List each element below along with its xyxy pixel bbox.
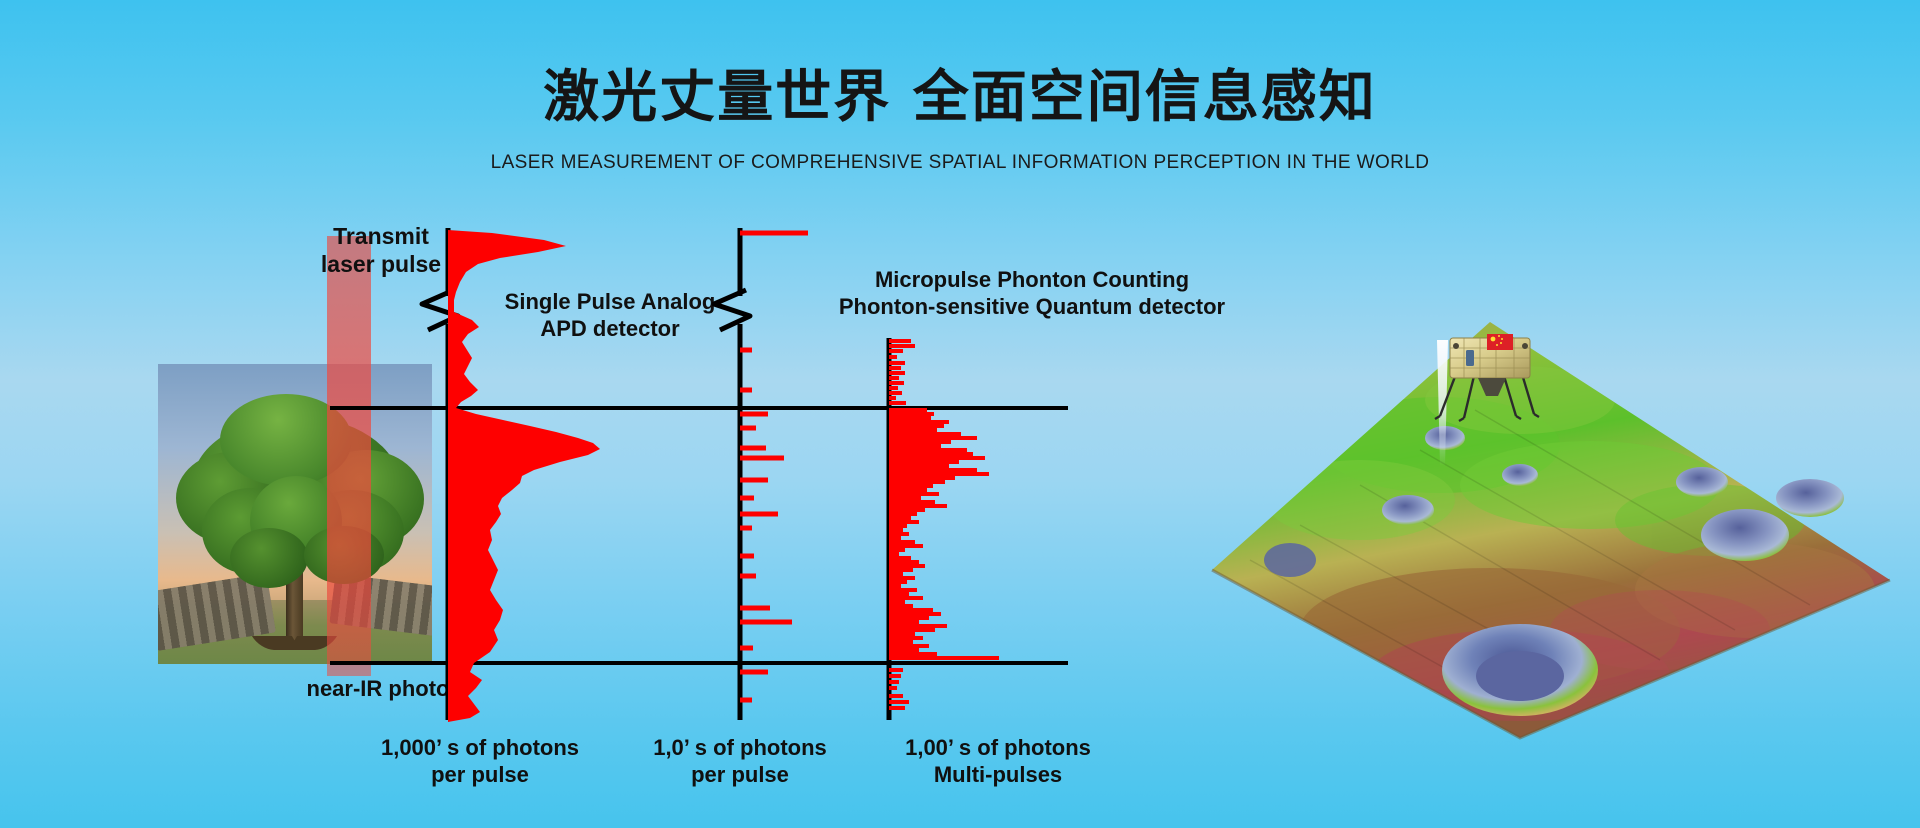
- waveform-bar: [889, 492, 939, 496]
- waveform-bar: [889, 504, 947, 508]
- waveform-bar: [889, 588, 917, 592]
- waveform-bar: [889, 592, 909, 596]
- waveform-bar: [889, 584, 901, 588]
- lander-thruster: [1453, 343, 1459, 349]
- waveform-bar: [889, 412, 934, 416]
- waveform-bar: [889, 436, 977, 440]
- waveform-panel-photon-counting-sparse: [714, 228, 808, 720]
- crater-small: [1382, 495, 1434, 525]
- waveform-bar: [889, 448, 967, 452]
- waveform-bar: [889, 391, 902, 395]
- waveform-bar: [889, 408, 927, 412]
- infographic-canvas: 激光丈量世界 全面空间信息感知 LASER MEASUREMENT OF COM…: [0, 0, 1920, 828]
- waveform-bar: [889, 628, 935, 632]
- waveform-bar: [889, 401, 906, 405]
- crater-small: [1264, 543, 1316, 577]
- waveform-bar: [889, 344, 915, 348]
- waveform-bar: [889, 520, 919, 524]
- waveform-bar: [740, 526, 752, 531]
- crater-mid: [1776, 479, 1844, 517]
- waveform-bar: [740, 456, 784, 461]
- crater-large-floor: [1476, 651, 1564, 701]
- waveform-bar: [889, 596, 923, 600]
- waveform-bar: [889, 636, 923, 640]
- waveform-bar: [889, 580, 907, 584]
- waveform-bar: [889, 361, 905, 365]
- waveform-bar: [889, 432, 961, 436]
- waveform-bar: [889, 472, 989, 476]
- waveform-bar: [889, 564, 925, 568]
- waveform-bar: [740, 478, 768, 483]
- waveform-bar: [889, 500, 935, 504]
- waveform-bar: [889, 644, 929, 648]
- waveform-area: [448, 230, 600, 722]
- crater-mid: [1701, 509, 1789, 561]
- waveform-bar: [740, 698, 752, 703]
- waveform-bar: [889, 516, 911, 520]
- waveform-bar: [889, 572, 903, 576]
- axis-break-symbol: [714, 290, 750, 330]
- waveform-bar: [889, 616, 929, 620]
- waveform-bar: [889, 355, 897, 359]
- waveform-bar: [889, 366, 901, 370]
- waveform-bar: [740, 606, 770, 611]
- waveform-bar: [889, 576, 915, 580]
- waveform-bar: [889, 488, 927, 492]
- waveform-bar: [889, 396, 896, 400]
- terrain-surface: [1212, 322, 1890, 738]
- waveform-bar: [889, 648, 919, 652]
- waveform-bar: [889, 532, 909, 536]
- waveform-bar: [889, 656, 999, 660]
- waveform-bar: [889, 420, 949, 424]
- waveform-bar: [740, 426, 756, 431]
- waveform-bar: [889, 680, 899, 684]
- waveform-bar: [889, 568, 913, 572]
- waveform-bar: [740, 646, 753, 651]
- waveform-bar: [889, 632, 915, 636]
- waveform-bar: [889, 694, 903, 698]
- waveform-bar: [889, 612, 941, 616]
- waveform-bar: [740, 412, 768, 417]
- waveform-bar: [889, 524, 907, 528]
- waveform-bar: [889, 640, 913, 644]
- waveform-bar: [889, 544, 923, 548]
- waveform-panel-single-pulse-analog-apd: [422, 228, 600, 722]
- waveform-bar: [889, 349, 903, 353]
- waveform-bar: [889, 452, 973, 456]
- waveform-bar: [889, 508, 925, 512]
- lander-nozzle: [1478, 378, 1506, 396]
- waveform-bar: [889, 416, 931, 420]
- waveform-bar: [889, 686, 897, 690]
- waveform-bar: [889, 371, 905, 375]
- waveform-bar: [889, 608, 933, 612]
- waveform-bar: [889, 456, 985, 460]
- waveform-bar: [889, 496, 921, 500]
- waveform-bar: [889, 386, 898, 390]
- lander-instrument: [1466, 350, 1474, 366]
- waveform-bar: [740, 620, 792, 625]
- waveform-bar: [889, 536, 901, 540]
- waveform-bar: [889, 552, 899, 556]
- waveform-bar: [889, 339, 911, 343]
- waveform-bar: [889, 548, 905, 552]
- waveform-bar: [889, 560, 919, 564]
- waveform-bar: [889, 440, 951, 444]
- waveform-bar: [889, 674, 901, 678]
- waveform-bar: [889, 468, 977, 472]
- waveform-bar: [889, 600, 905, 604]
- waveform-bar: [889, 381, 904, 385]
- waveform-bar: [889, 528, 903, 532]
- crater-small: [1502, 464, 1538, 486]
- waveform-bar: [889, 652, 937, 656]
- waveform-bar: [889, 604, 913, 608]
- waveform-bar: [889, 700, 909, 704]
- waveform-bar: [889, 424, 944, 428]
- waveform-bar: [889, 556, 911, 560]
- waveform-bar: [889, 668, 903, 672]
- waveform-bar: [889, 428, 937, 432]
- lander-thruster: [1522, 343, 1528, 349]
- waveform-bar: [740, 512, 778, 517]
- waveform-bar: [889, 540, 915, 544]
- waveform-bar: [889, 484, 933, 488]
- waveform-bar: [889, 706, 905, 710]
- waveform-bar: [889, 444, 941, 448]
- waveform-bar: [889, 376, 899, 380]
- waveform-bar: [889, 480, 945, 484]
- waveform-bar: [740, 388, 752, 393]
- waveform-bar: [889, 460, 959, 464]
- waveform-bar: [740, 554, 754, 559]
- lidar-terrain-model: [1190, 270, 1920, 770]
- waveform-bar: [740, 574, 756, 579]
- waveform-bar: [740, 446, 766, 451]
- waveform-bar: [740, 231, 808, 236]
- lander-china-flag: [1487, 334, 1513, 350]
- waveform-bar: [740, 670, 768, 675]
- waveform-bar: [889, 476, 955, 480]
- lunar-lander: [1430, 330, 1550, 426]
- waveform-bar: [889, 624, 947, 628]
- waveform-bar: [889, 464, 949, 468]
- waveform-bar: [889, 512, 917, 516]
- crater-small: [1676, 467, 1728, 497]
- waveform-bar: [889, 620, 919, 624]
- waveform-bar: [740, 496, 754, 501]
- waveform-bar: [740, 348, 752, 353]
